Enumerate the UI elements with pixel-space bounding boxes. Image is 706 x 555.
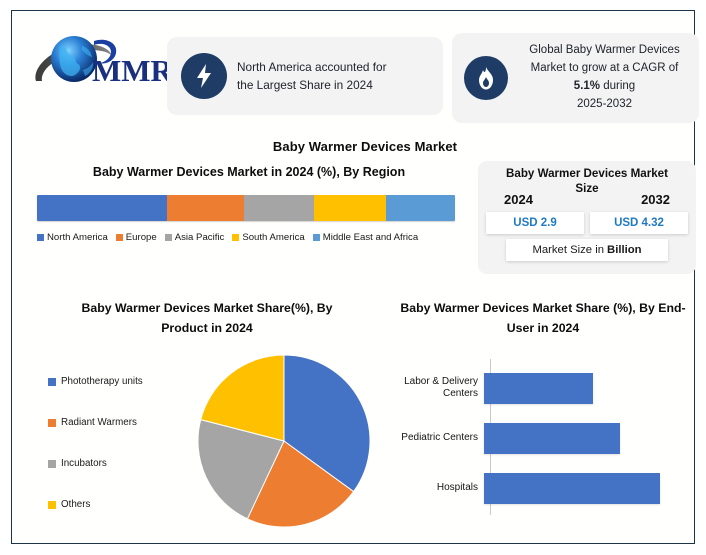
product-legend-item: Radiant Warmers	[48, 402, 198, 443]
region-legend-item: Middle East and Africa	[313, 232, 418, 243]
market-size-panel: Baby Warmer Devices Market Size 2024 203…	[478, 161, 696, 274]
region-stacked-bar	[37, 195, 455, 221]
logo-text: MMR	[92, 53, 170, 88]
card-region-line1: North America accounted for	[237, 60, 387, 74]
highlight-card-cagr-text: Global Baby Warmer Devices Market to gro…	[518, 42, 691, 113]
market-size-unit-prefix: Market Size in	[532, 244, 604, 256]
product-legend-item: Others	[48, 484, 198, 525]
enduser-bar-fill	[484, 473, 660, 504]
product-legend-label: Radiant Warmers	[61, 417, 137, 428]
card-cagr-line1: Global Baby Warmer Devices	[529, 44, 679, 56]
product-pie-legend: Phototherapy unitsRadiant WarmersIncubat…	[48, 361, 198, 525]
legend-swatch-icon	[48, 501, 56, 509]
card-cagr-period: 2025-2032	[577, 98, 632, 110]
product-pie-title: Baby Warmer Devices Market Share(%), By …	[32, 299, 382, 338]
region-segment-asia-pacific	[244, 195, 314, 221]
region-legend-label: South America	[242, 232, 304, 243]
enduser-bar-track	[484, 365, 706, 411]
globe-swoosh-icon: MMR	[30, 29, 170, 95]
highlight-card-region-text: North America accounted for the Largest …	[237, 58, 433, 95]
legend-swatch-icon	[165, 234, 172, 241]
market-size-unit: Market Size inBillion	[506, 239, 668, 261]
product-legend-label: Incubators	[61, 458, 107, 469]
lightning-bolt-icon	[181, 53, 227, 99]
enduser-bar-label: Hospitals	[380, 482, 484, 495]
infographic-canvas: MMR North America accounted for the Larg…	[0, 0, 706, 555]
enduser-bar-label: Labor & Delivery Centers	[380, 376, 484, 401]
region-legend-item: North America	[37, 232, 108, 243]
enduser-bar-label: Pediatric Centers	[380, 432, 484, 445]
region-chart-legend: North AmericaEuropeAsia PacificSouth Ame…	[34, 232, 464, 243]
card-cagr-rate: 5.1%	[574, 80, 600, 92]
product-legend-item: Phototherapy units	[48, 361, 198, 402]
enduser-bar-track	[484, 465, 706, 511]
highlight-card-cagr: Global Baby Warmer Devices Market to gro…	[452, 33, 699, 123]
region-legend-item: Asia Pacific	[165, 232, 225, 243]
legend-swatch-icon	[48, 419, 56, 427]
mmr-logo: MMR	[30, 29, 170, 95]
legend-swatch-icon	[48, 378, 56, 386]
region-legend-label: Europe	[126, 232, 157, 243]
product-pie-chart: Baby Warmer Devices Market Share(%), By …	[32, 299, 382, 544]
market-size-value-forecast: USD 4.32	[590, 212, 688, 234]
flame-icon	[464, 56, 508, 100]
region-chart-title: Baby Warmer Devices Market in 2024 (%), …	[34, 163, 464, 182]
market-size-year-forecast: 2032	[641, 192, 670, 207]
page-title: Baby Warmer Devices Market	[12, 139, 706, 154]
region-chart: Baby Warmer Devices Market in 2024 (%), …	[34, 163, 464, 243]
infographic-frame: MMR North America accounted for the Larg…	[11, 10, 695, 544]
enduser-bar-plot: Labor & Delivery CentersPediatric Center…	[380, 357, 706, 517]
region-legend-label: Asia Pacific	[175, 232, 225, 243]
market-size-title: Baby Warmer Devices Market	[486, 168, 688, 181]
legend-swatch-icon	[37, 234, 44, 241]
enduser-bar-chart: Baby Warmer Devices Market Share (%), By…	[380, 299, 706, 544]
enduser-bar-row: Labor & Delivery Centers	[380, 365, 706, 411]
product-legend-label: Others	[61, 499, 90, 510]
enduser-bar-fill	[484, 373, 593, 404]
region-segment-north-america	[37, 195, 167, 221]
legend-swatch-icon	[48, 460, 56, 468]
legend-swatch-icon	[232, 234, 239, 241]
market-size-year-base: 2024	[504, 192, 533, 207]
card-region-line2: the Largest Share in 2024	[237, 78, 373, 92]
product-legend-item: Incubators	[48, 443, 198, 484]
market-size-unit-strong: Billion	[607, 244, 642, 256]
region-legend-item: Europe	[116, 232, 157, 243]
enduser-bar-title: Baby Warmer Devices Market Share (%), By…	[380, 299, 706, 338]
region-segment-middle-east-and-africa	[386, 195, 455, 221]
market-size-word: Size	[575, 182, 598, 195]
highlight-card-region: North America accounted for the Largest …	[167, 37, 443, 115]
market-size-values: USD 2.9 USD 4.32	[486, 212, 688, 234]
legend-swatch-icon	[116, 234, 123, 241]
enduser-bar-row: Pediatric Centers	[380, 415, 706, 461]
market-size-years: Size 2024 2032	[486, 185, 688, 211]
legend-swatch-icon	[313, 234, 320, 241]
enduser-bar-fill	[484, 423, 620, 454]
region-legend-label: Middle East and Africa	[323, 232, 418, 243]
card-cagr-line3-rest: during	[600, 80, 635, 92]
region-legend-label: North America	[47, 232, 108, 243]
region-segment-europe	[167, 195, 244, 221]
product-legend-label: Phototherapy units	[61, 376, 143, 387]
card-cagr-line2: Market to grow at a CAGR of	[531, 62, 679, 74]
region-segment-south-america	[314, 195, 386, 221]
product-pie-graphic	[194, 351, 374, 536]
region-legend-item: South America	[232, 232, 304, 243]
market-size-value-base: USD 2.9	[486, 212, 584, 234]
enduser-bar-track	[484, 415, 706, 461]
enduser-bar-row: Hospitals	[380, 465, 706, 511]
